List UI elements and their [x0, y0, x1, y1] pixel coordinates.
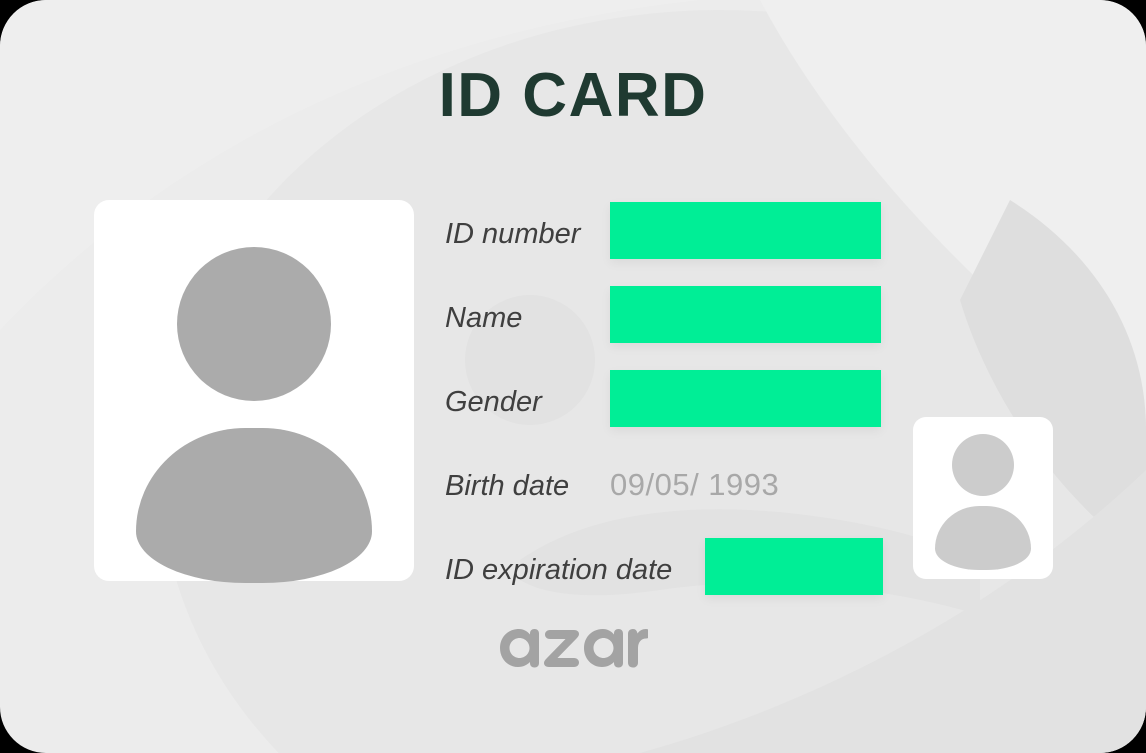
person-body-icon: [136, 428, 372, 583]
field-row-id-number: ID number: [445, 200, 905, 284]
secondary-person-head-icon: [952, 434, 1014, 496]
person-head-icon: [177, 247, 331, 401]
secondary-person-body-icon: [935, 506, 1031, 570]
portrait-photo: [94, 200, 414, 581]
field-label-birth-date: Birth date: [445, 468, 569, 504]
redaction-bar-name: [610, 286, 881, 343]
redaction-bar-gender: [610, 370, 881, 427]
field-value-birth-date: 09/05/ 1993: [610, 466, 779, 504]
field-row-gender: Gender: [445, 368, 905, 452]
redaction-bar-id-number: [610, 202, 881, 259]
azar-wordmark-icon: [498, 624, 648, 670]
field-row-name: Name: [445, 284, 905, 368]
field-label-id-number: ID number: [445, 216, 580, 252]
page-title: ID CARD: [0, 62, 1146, 130]
field-row-birth-date: Birth date 09/05/ 1993: [445, 452, 905, 536]
redaction-bar-expiration-date: [705, 538, 883, 595]
brand-logo: [0, 624, 1146, 670]
field-row-expiration-date: ID expiration date: [445, 536, 905, 620]
field-label-gender: Gender: [445, 384, 542, 420]
field-label-expiration-date: ID expiration date: [445, 552, 672, 588]
id-card: ID CARD ID number Name Gender Birth date…: [0, 0, 1146, 753]
field-list: ID number Name Gender Birth date 09/05/ …: [445, 200, 905, 620]
field-label-name: Name: [445, 300, 522, 336]
secondary-portrait-photo: [913, 417, 1053, 579]
